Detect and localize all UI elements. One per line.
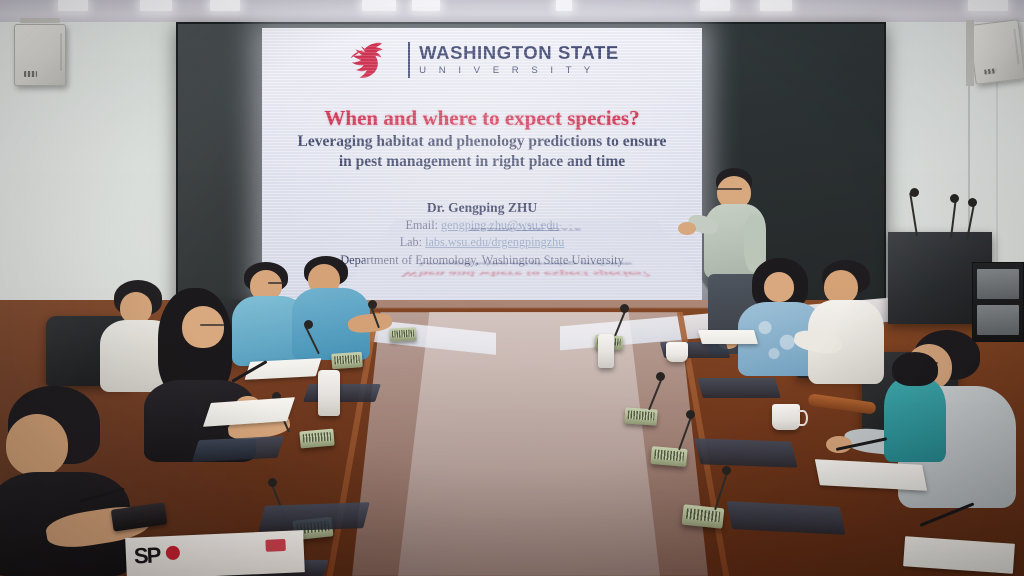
name-plate — [694, 438, 797, 467]
microphone-head — [304, 320, 313, 329]
ceiling-light — [58, 0, 88, 11]
wordmark-line1: WASHINGTON STATE — [419, 44, 619, 63]
handout-graphic-red — [166, 546, 181, 561]
reflection-wordmark-2: U N I V E R S I T Y — [391, 224, 661, 226]
subtitle-line-2: in pest management in right place and ti… — [274, 152, 690, 172]
presenter-hand-left — [678, 222, 696, 235]
attendee-hair — [892, 352, 938, 386]
ceiling-light — [210, 0, 240, 11]
wall-speaker-right — [969, 19, 1024, 85]
wall-speaker-left — [14, 24, 66, 86]
attendee-top — [884, 378, 946, 462]
coffee-cup-center[interactable] — [666, 342, 688, 362]
microphone-grille — [334, 355, 360, 365]
attendee-glasses — [268, 282, 286, 284]
conference-microphone[interactable] — [331, 352, 363, 369]
conference-microphone[interactable] — [682, 504, 725, 529]
conference-microphone[interactable] — [650, 446, 687, 467]
ceiling-light — [362, 0, 396, 11]
microphone-head — [722, 466, 731, 475]
speaker-grille — [984, 68, 997, 75]
name-plate — [303, 384, 381, 402]
ceiling-light — [556, 0, 572, 11]
slide-title: When and where to expect species? — [270, 106, 694, 131]
reflection-title: When and where to expect species? — [352, 269, 699, 278]
podium-mic-head — [950, 194, 959, 203]
notepad — [698, 330, 758, 344]
water-bottle-left[interactable] — [318, 370, 340, 416]
wsu-cougar-logo — [345, 40, 399, 80]
reflection-subtitle: Leveraging habitat and phenology predict… — [369, 261, 683, 267]
attendee-head — [6, 414, 68, 476]
speaker-mount-right — [966, 20, 974, 86]
logo-divider — [408, 42, 410, 78]
coffee-cup-right[interactable] — [772, 404, 800, 430]
handout-graphic-dark: SP — [133, 542, 159, 569]
rack-slot — [977, 269, 1019, 299]
ceiling-light — [700, 0, 730, 11]
presenter-glasses — [716, 188, 742, 190]
presenter-name: Dr. Gengping ZHU — [272, 200, 692, 216]
microphone-head — [368, 300, 377, 309]
speaker-mount-left — [20, 18, 60, 23]
wsu-wordmark: WASHINGTON STATE U N I V E R S I T Y — [419, 44, 619, 75]
speaker-grille — [24, 71, 37, 76]
microphone-grille — [303, 432, 332, 443]
water-bottle-center[interactable] — [598, 334, 614, 368]
table-reflection: When and where to expect species? Levera… — [330, 220, 722, 308]
attendee-glasses — [200, 324, 224, 326]
speaker-side-detail — [60, 33, 63, 70]
microphone-head — [656, 372, 665, 381]
handout-graphic-red-2 — [265, 539, 286, 552]
attendee-head — [764, 272, 794, 302]
attendee-head — [182, 306, 224, 348]
conference-room-scene: WASHINGTON STATE U N I V E R S I T Y Whe… — [0, 0, 1024, 576]
microphone-head — [620, 304, 629, 313]
attendee-head — [824, 270, 858, 304]
podium-mic-head — [968, 198, 977, 207]
reflection-wordmark-1: WASHINGTON STATE — [387, 227, 665, 231]
wordmark-line2: U N I V E R S I T Y — [419, 66, 619, 76]
ceiling-light — [140, 0, 172, 11]
subtitle-line-1: Leveraging habitat and phenology predict… — [274, 132, 690, 152]
ceiling-light — [760, 0, 792, 11]
attendee-left-4 — [292, 256, 378, 360]
conference-microphone[interactable] — [389, 327, 416, 342]
microphone-head — [268, 478, 277, 487]
table-center-divider — [398, 312, 660, 576]
conference-microphone[interactable] — [299, 429, 334, 449]
microphone-grille — [654, 449, 684, 461]
podium-mic-head — [910, 188, 919, 197]
microphone-grille — [392, 330, 414, 338]
name-plate — [258, 502, 370, 532]
cup-handle — [798, 410, 808, 426]
wsu-logo-row: WASHINGTON STATE U N I V E R S I T Y — [262, 40, 702, 80]
ceiling-light — [412, 0, 440, 11]
microphone-grille — [628, 410, 655, 420]
ceiling-light — [968, 0, 1008, 11]
speaker-side-detail — [1013, 29, 1020, 65]
attendee-right-4 — [884, 352, 954, 462]
name-plate — [697, 378, 781, 398]
conference-microphone[interactable] — [624, 407, 657, 425]
slide-subtitle: Leveraging habitat and phenology predict… — [274, 132, 690, 172]
microphone-head — [686, 410, 695, 419]
printed-handout: SP — [125, 530, 305, 576]
